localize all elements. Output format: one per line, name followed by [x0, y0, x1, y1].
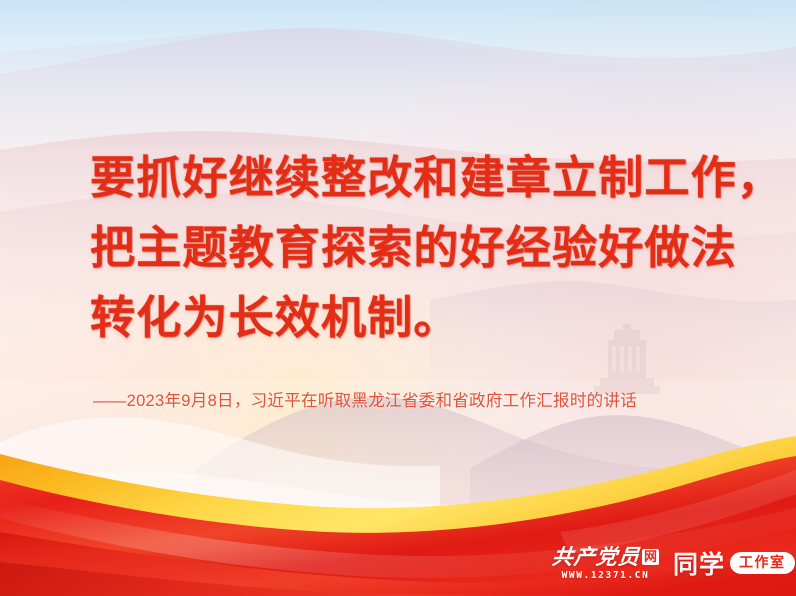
logo-lockup[interactable]: 共产党员 网 WWW.12371.CN 同学 工作室 — [552, 541, 795, 585]
poster-canvas: 要抓好继续整改和建章立制工作， 把主题教育探索的好经验好做法 转化为长效机制。 … — [0, 0, 796, 596]
brand-12371[interactable]: 共产党员 网 WWW.12371.CN — [552, 546, 659, 581]
headline-line-1: 要抓好继续整改和建章立制工作， — [90, 143, 750, 213]
brand-script-text: 共产党员 — [551, 546, 641, 567]
studio-badge-text: 工作室 — [730, 552, 795, 574]
studio-name-text: 同学 — [673, 545, 725, 581]
brand-wordmark: 共产党员 网 — [552, 546, 659, 567]
studio-lockup[interactable]: 同学 工作室 — [673, 545, 795, 581]
headline-line-3: 转化为长效机制。 — [90, 283, 750, 353]
attribution-text: ——2023年9月8日，习近平在听取黑龙江省委和省政府工作汇报时的讲话 — [93, 387, 637, 411]
headline-block: 要抓好继续整改和建章立制工作， 把主题教育探索的好经验好做法 转化为长效机制。 — [90, 143, 750, 353]
headline-line-2: 把主题教育探索的好经验好做法 — [90, 213, 750, 283]
brand-box-text: 网 — [642, 549, 659, 565]
brand-url-text: WWW.12371.CN — [562, 571, 650, 581]
